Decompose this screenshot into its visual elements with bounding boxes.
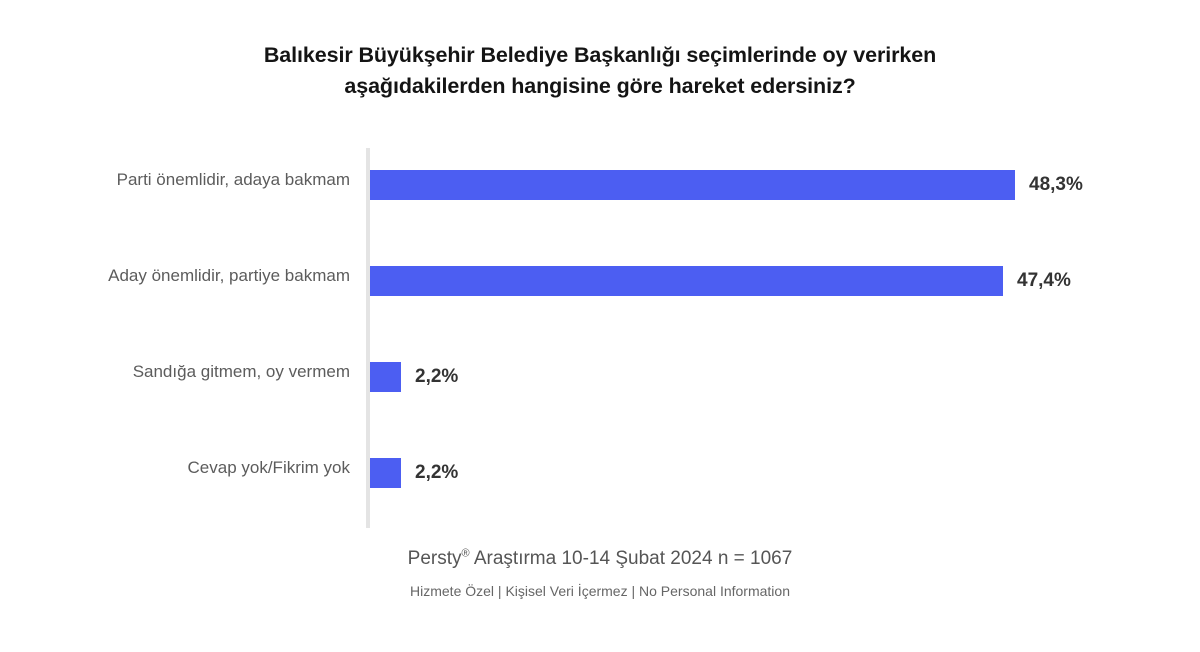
chart-container: Balıkesir Büyükşehir Belediye Başkanlığı… xyxy=(0,0,1200,652)
chart-title: Balıkesir Büyükşehir Belediye Başkanlığı… xyxy=(150,40,1050,102)
bar-value-label-2: 2,2% xyxy=(415,364,458,390)
category-label-3: Cevap yok/Fikrim yok xyxy=(20,456,350,480)
bar-track-3: 2,2% xyxy=(370,456,1170,488)
footer-source: Persty® Araştırma 10-14 Şubat 2024 n = 1… xyxy=(150,545,1050,573)
bar-track-2: 2,2% xyxy=(370,360,1170,392)
footer-source-details: Araştırma 10-14 Şubat 2024 n = 1067 xyxy=(470,548,793,569)
bar-row: Aday önemlidir, partiye bakmam 47,4% xyxy=(0,236,1200,332)
bar-1[interactable] xyxy=(370,266,1003,296)
bar-row: Cevap yok/Fikrim yok 2,2% xyxy=(0,428,1200,524)
category-label-1: Aday önemlidir, partiye bakmam xyxy=(20,264,350,288)
category-label-2: Sandığa gitmem, oy vermem xyxy=(20,360,350,384)
bar-0[interactable] xyxy=(370,170,1015,200)
bar-2[interactable] xyxy=(370,362,401,392)
bar-value-label-1: 47,4% xyxy=(1017,268,1071,294)
bar-series: Parti önemlidir, adaya bakmam 48,3% Aday… xyxy=(0,140,1200,536)
bar-value-label-3: 2,2% xyxy=(415,460,458,486)
chart-title-line-1: Balıkesir Büyükşehir Belediye Başkanlığı… xyxy=(150,40,1050,71)
bar-row: Sandığa gitmem, oy vermem 2,2% xyxy=(0,332,1200,428)
footer-disclaimer: Hizmete Özel | Kişisel Veri İçermez | No… xyxy=(150,581,1050,601)
bar-row: Parti önemlidir, adaya bakmam 48,3% xyxy=(0,140,1200,236)
bar-track-0: 48,3% xyxy=(370,168,1170,200)
plot-area: Parti önemlidir, adaya bakmam 48,3% Aday… xyxy=(0,140,1200,536)
bar-3[interactable] xyxy=(370,458,401,488)
category-label-0: Parti önemlidir, adaya bakmam xyxy=(20,168,350,192)
chart-title-line-2: aşağıdakilerden hangisine göre hareket e… xyxy=(150,71,1050,102)
chart-footer: Persty® Araştırma 10-14 Şubat 2024 n = 1… xyxy=(150,545,1050,601)
bar-value-label-0: 48,3% xyxy=(1029,172,1083,198)
footer-source-brand: Persty xyxy=(408,548,462,569)
bar-track-1: 47,4% xyxy=(370,264,1170,296)
registered-trademark-icon: ® xyxy=(462,548,470,560)
